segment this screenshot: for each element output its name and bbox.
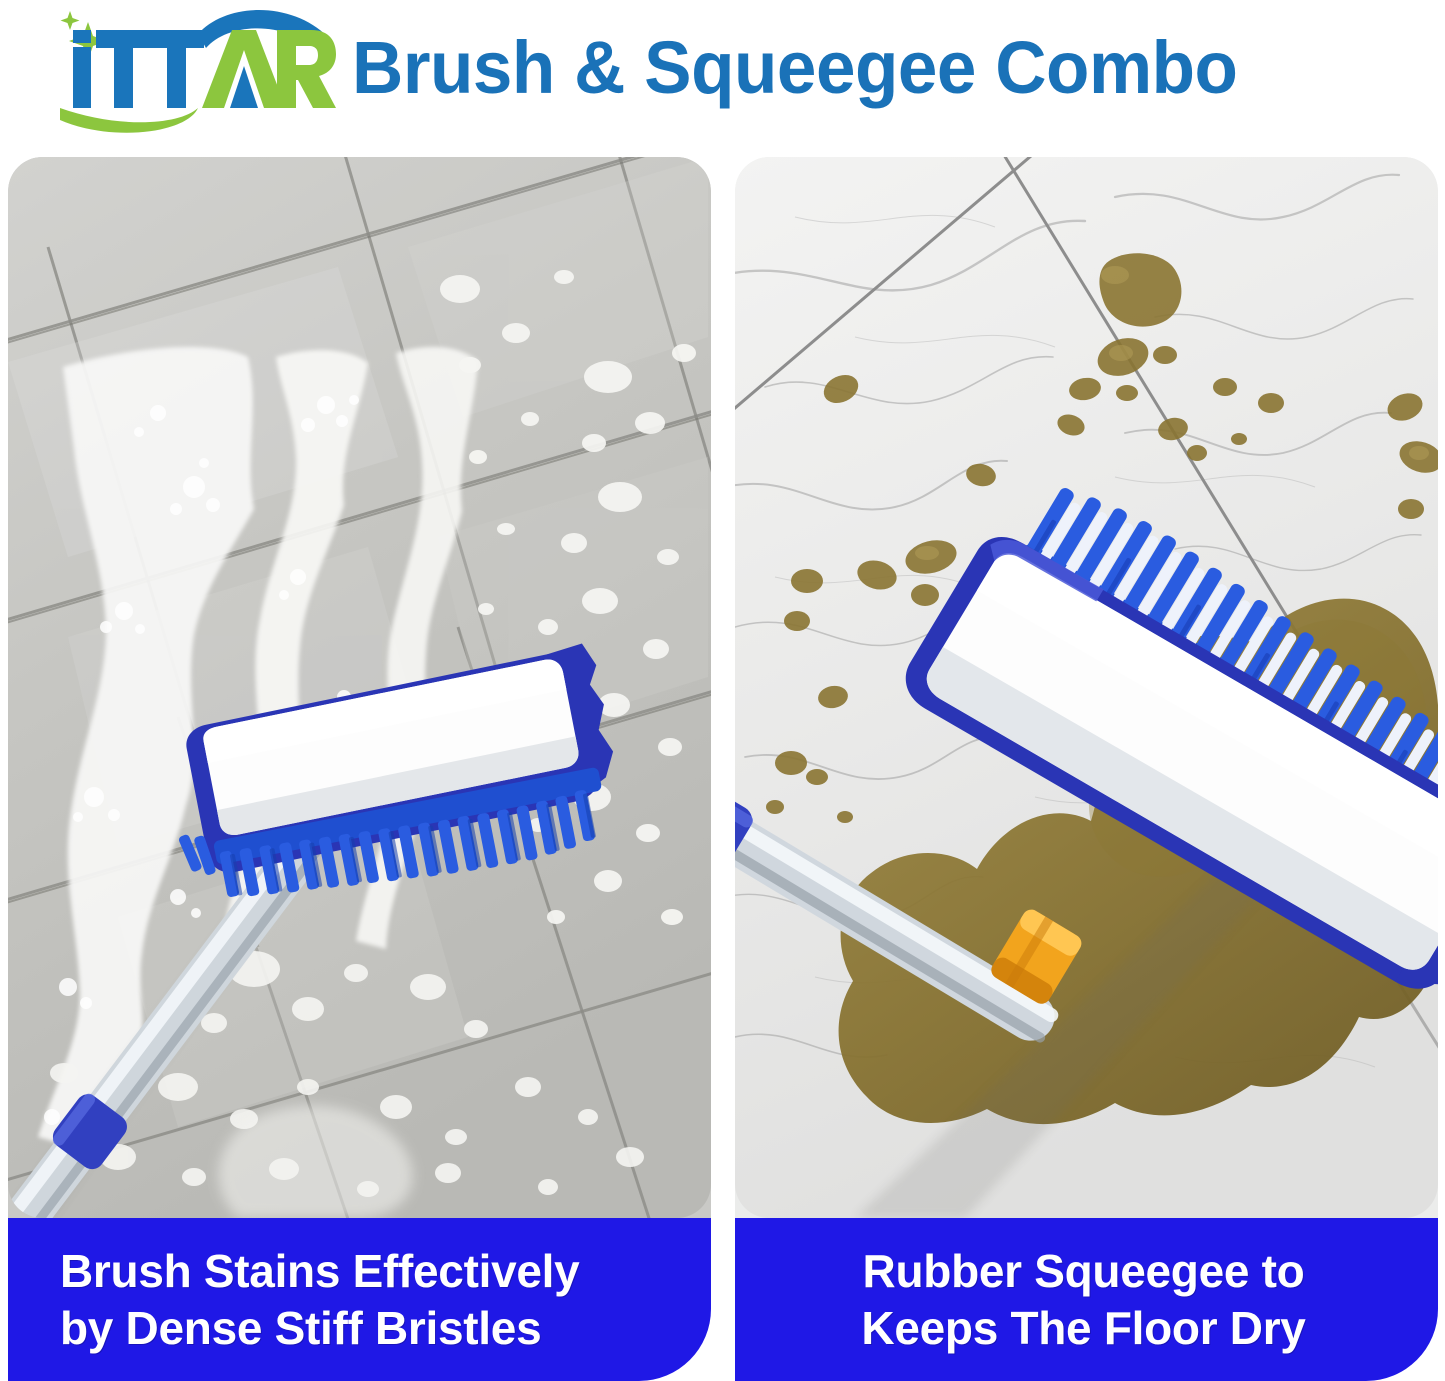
header-bar: Brush & Squeegee Combo xyxy=(0,0,1445,140)
feature-panel-left: Brush Stains Effectively by Dense Stiff … xyxy=(8,157,711,1381)
caption-line-1: Brush Stains Effectively xyxy=(60,1243,579,1300)
caption-line-1: Rubber Squeegee to xyxy=(863,1243,1305,1300)
tile-floor-background xyxy=(8,157,711,1218)
caption-bar-left: Brush Stains Effectively by Dense Stiff … xyxy=(8,1218,711,1381)
ittar-logo xyxy=(46,4,336,136)
marble-floor-background xyxy=(735,157,1438,1218)
caption-line-2: by Dense Stiff Bristles xyxy=(60,1300,541,1357)
page-title: Brush & Squeegee Combo xyxy=(352,22,1237,114)
brush-product-right xyxy=(735,455,1438,1218)
caption-line-2: Keeps The Floor Dry xyxy=(861,1300,1305,1357)
brush-product-left xyxy=(8,642,630,1218)
product-photo-marble-spill xyxy=(735,157,1438,1218)
caption-bar-right: Rubber Squeegee to Keeps The Floor Dry xyxy=(735,1218,1438,1381)
feature-panel-right: Rubber Squeegee to Keeps The Floor Dry xyxy=(735,157,1438,1381)
product-photo-soapy-tile xyxy=(8,157,711,1218)
